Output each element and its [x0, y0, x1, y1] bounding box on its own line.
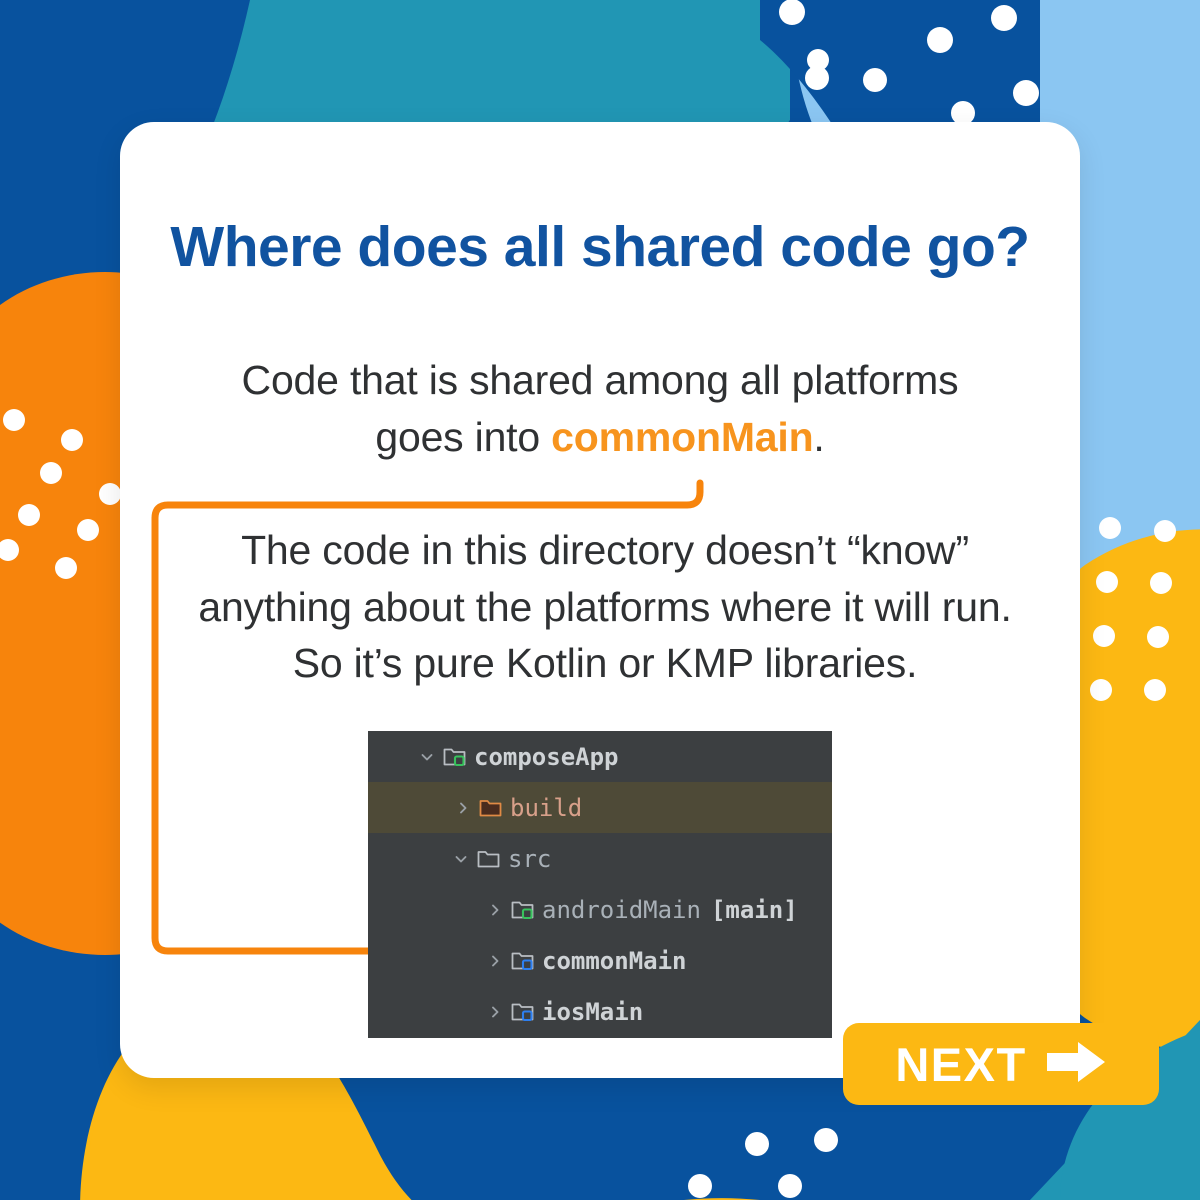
next-button[interactable]: NEXT [843, 1023, 1159, 1105]
folder-plain-icon [474, 847, 504, 871]
folder-module-green-icon [440, 745, 470, 769]
chevron-right-icon[interactable] [450, 800, 476, 816]
arrow-right-icon [1045, 1039, 1107, 1090]
tree-row-androidmain[interactable]: androidMain [main] [368, 884, 832, 935]
tree-row-build[interactable]: build [368, 782, 832, 833]
next-button-label: NEXT [895, 1037, 1026, 1092]
folder-excluded-orange-icon [476, 796, 506, 820]
tree-row-composeapp[interactable]: composeApp [368, 731, 832, 782]
paragraph-secondary: The code in this directory doesn’t “know… [180, 522, 1030, 692]
tree-item-label: build [510, 794, 582, 822]
folder-source-blue-icon [508, 1000, 538, 1024]
tree-row-src[interactable]: src [368, 833, 832, 884]
chevron-right-icon[interactable] [482, 902, 508, 918]
page-title: Where does all shared code go? [120, 218, 1080, 278]
paragraph-primary: Code that is shared among all platforms … [230, 352, 970, 465]
chevron-right-icon[interactable] [482, 1004, 508, 1020]
tree-row-commonmain[interactable]: commonMain [368, 935, 832, 986]
chevron-down-icon[interactable] [448, 851, 474, 867]
tree-item-label: iosMain [542, 998, 643, 1026]
tree-item-label: composeApp [474, 743, 619, 771]
folder-source-green-icon [508, 898, 538, 922]
highlight-commonmain: commonMain [551, 414, 813, 460]
tree-item-tag: [main] [711, 896, 798, 924]
tree-item-label: commonMain [542, 947, 687, 975]
slide-canvas: Where does all shared code go? Code that… [0, 0, 1200, 1200]
chevron-down-icon[interactable] [414, 749, 440, 765]
file-tree-panel[interactable]: composeApp build [368, 731, 832, 1038]
tree-row-iosmain[interactable]: iosMain [368, 986, 832, 1037]
tree-item-label: src [508, 845, 551, 873]
paragraph-primary-after: . [813, 414, 824, 460]
tree-item-label: androidMain [542, 896, 701, 924]
folder-source-blue-icon [508, 949, 538, 973]
chevron-right-icon[interactable] [482, 953, 508, 969]
